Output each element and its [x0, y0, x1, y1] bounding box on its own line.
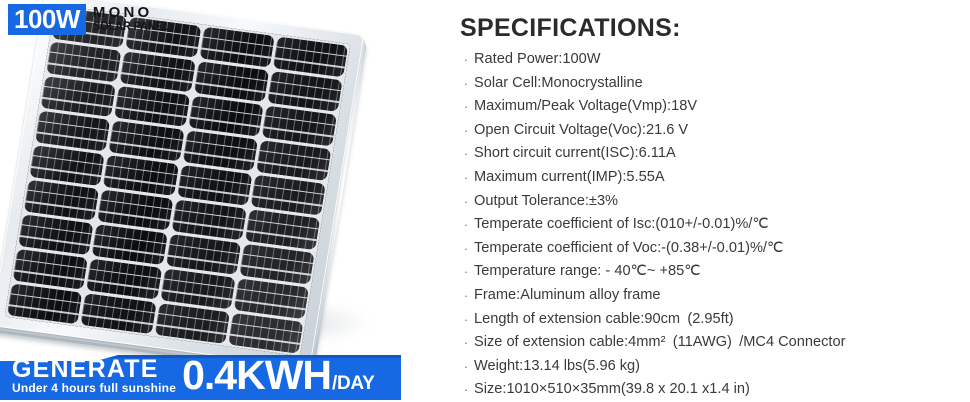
spec-list-item: ·Output Tolerance:±3%	[458, 190, 970, 214]
bullet-icon: ·	[458, 213, 474, 237]
bullet-icon: ·	[458, 284, 474, 308]
spec-list-item: ·Solar Cell:Monocrystalline	[458, 72, 970, 96]
solar-cell	[103, 155, 179, 196]
solar-cell	[256, 140, 332, 181]
spec-text: Output Tolerance:±3%	[474, 190, 618, 214]
solar-cell	[267, 71, 343, 112]
spec-list-item: ·Size of extension cable:4mm² (11AWG) /M…	[458, 331, 970, 355]
bullet-icon: ·	[458, 308, 474, 332]
spec-text: Frame:Aluminum alloy frame	[474, 284, 661, 308]
spec-text: Temperate coefficient of Voc:-(0.38+/-0.…	[474, 237, 783, 261]
banner-value-block: 0.4KWH /DAY	[182, 355, 374, 397]
solar-cell	[80, 293, 156, 334]
bullet-icon: ·	[458, 190, 474, 214]
solar-cell	[46, 41, 122, 82]
spec-list-item: ·Weight:13.14 lbs(5.96 kg)	[458, 355, 970, 379]
specifications-list: ·Rated Power:100W·Solar Cell:Monocrystal…	[458, 48, 970, 402]
solar-panel-photo	[0, 0, 450, 400]
spec-text: Solar Cell:Monocrystalline	[474, 72, 643, 96]
product-spec-image: 100W MONO SOLAR PANEL GENERATE Under 4 h…	[0, 0, 970, 400]
solar-cell	[92, 224, 168, 265]
bullet-icon: ·	[458, 260, 474, 284]
spec-list-item: ·Temperature range: - 40℃~ +85℃	[458, 260, 970, 284]
spec-text: Maximum current(IMP):5.55A	[474, 166, 665, 190]
product-badge: 100W MONO SOLAR PANEL	[8, 4, 172, 35]
panel-type-line1: MONO	[93, 5, 172, 20]
bullet-icon: ·	[458, 72, 474, 96]
solar-cell	[154, 303, 230, 344]
solar-cell	[12, 249, 88, 290]
solar-cell	[233, 278, 309, 319]
spec-list-item: ·Open Circuit Voltage(Voc):21.6 V	[458, 119, 970, 143]
panel-laminate	[5, 5, 351, 356]
spec-text: Length of extension cable:90cm (2.95ft)	[474, 308, 734, 332]
bullet-icon: ·	[458, 142, 474, 166]
banner-headline-block: GENERATE Under 4 hours full sunshine	[12, 357, 176, 397]
spec-list-item: ·Maximum current(IMP):5.55A	[458, 166, 970, 190]
banner-unit: /DAY	[332, 374, 374, 393]
solar-cell	[40, 76, 116, 117]
solar-cell	[193, 61, 269, 102]
solar-cell	[165, 234, 241, 275]
solar-cell	[160, 268, 236, 309]
solar-cell	[24, 180, 100, 221]
spec-list-item: ·Temperate coefficient of Isc:(010+/-0.0…	[458, 213, 970, 237]
bullet-icon: ·	[458, 331, 474, 355]
solar-cell	[261, 106, 337, 147]
bullet-icon: ·	[458, 166, 474, 190]
solar-cell	[199, 27, 275, 68]
spec-text: Open Circuit Voltage(Voc):21.6 V	[474, 119, 688, 143]
solar-cell	[114, 86, 190, 127]
specifications-title: SPECIFICATIONS:	[460, 14, 681, 43]
solar-cell	[120, 51, 196, 92]
spec-text: Maximum/Peak Voltage(Vmp):18V	[474, 95, 697, 119]
solar-cell	[250, 175, 326, 216]
spec-list-item: ·Temperate coefficient of Voc:-(0.38+/-0…	[458, 237, 970, 261]
solar-cell	[18, 214, 94, 255]
solar-cell	[272, 36, 348, 77]
solar-cell	[182, 130, 258, 171]
bullet-icon: ·	[458, 237, 474, 261]
product-image-pane: 100W MONO SOLAR PANEL GENERATE Under 4 h…	[0, 0, 450, 400]
spec-list-item: ·Maximum/Peak Voltage(Vmp):18V	[458, 95, 970, 119]
spec-list-item: ·Short circuit current(ISC):6.11A	[458, 142, 970, 166]
solar-cell	[176, 165, 252, 206]
spec-text: Temperature range: - 40℃~ +85℃	[474, 260, 701, 284]
solar-cell	[188, 96, 264, 137]
spec-list-item: ·Frame:Aluminum alloy frame	[458, 284, 970, 308]
solar-cell	[171, 199, 247, 240]
spec-text: Rated Power:100W	[474, 48, 601, 72]
spec-list-item: ·Size:1010×510×35mm(39.8 x 20.1 x1.4 in)	[458, 378, 970, 402]
banner-content: GENERATE Under 4 hours full sunshine 0.4…	[0, 361, 401, 400]
solar-cell	[35, 111, 111, 152]
specifications-pane: SPECIFICATIONS: ·Rated Power:100W·Solar …	[458, 0, 970, 400]
banner-value: 0.4KWH	[182, 355, 331, 396]
spec-text: Size of extension cable:4mm² (11AWG) /MC…	[474, 331, 845, 355]
spec-list-item: ·Rated Power:100W	[458, 48, 970, 72]
generate-banner: GENERATE Under 4 hours full sunshine 0.4…	[0, 355, 401, 400]
solar-cell	[86, 259, 162, 300]
panel-body	[0, 0, 381, 400]
bullet-icon: ·	[458, 378, 474, 402]
solar-cell	[29, 145, 105, 186]
solar-cell-grid	[5, 5, 351, 356]
wattage-chip: 100W	[8, 4, 86, 35]
spec-text: Temperate coefficient of Isc:(010+/-0.01…	[474, 213, 769, 237]
bullet-icon: ·	[458, 119, 474, 143]
solar-cell	[97, 190, 173, 231]
solar-cell	[108, 120, 184, 161]
solar-cell	[228, 313, 304, 354]
solar-cell	[7, 283, 83, 324]
spec-text: Short circuit current(ISC):6.11A	[474, 142, 676, 166]
spec-list-item: ·Length of extension cable:90cm (2.95ft)	[458, 308, 970, 332]
solar-cell	[239, 244, 315, 285]
bullet-icon: ·	[458, 355, 474, 379]
bullet-icon: ·	[458, 95, 474, 119]
panel-aluminum-frame	[0, 0, 364, 369]
solar-cell	[244, 209, 320, 250]
panel-type-label: MONO SOLAR PANEL	[93, 4, 172, 33]
banner-subtext: Under 4 hours full sunshine	[12, 382, 176, 395]
spec-text: Weight:13.14 lbs(5.96 kg)	[474, 355, 640, 379]
bullet-icon: ·	[458, 48, 474, 72]
panel-type-line2: SOLAR PANEL	[93, 21, 169, 33]
spec-text: Size:1010×510×35mm(39.8 x 20.1 x1.4 in)	[474, 378, 750, 402]
